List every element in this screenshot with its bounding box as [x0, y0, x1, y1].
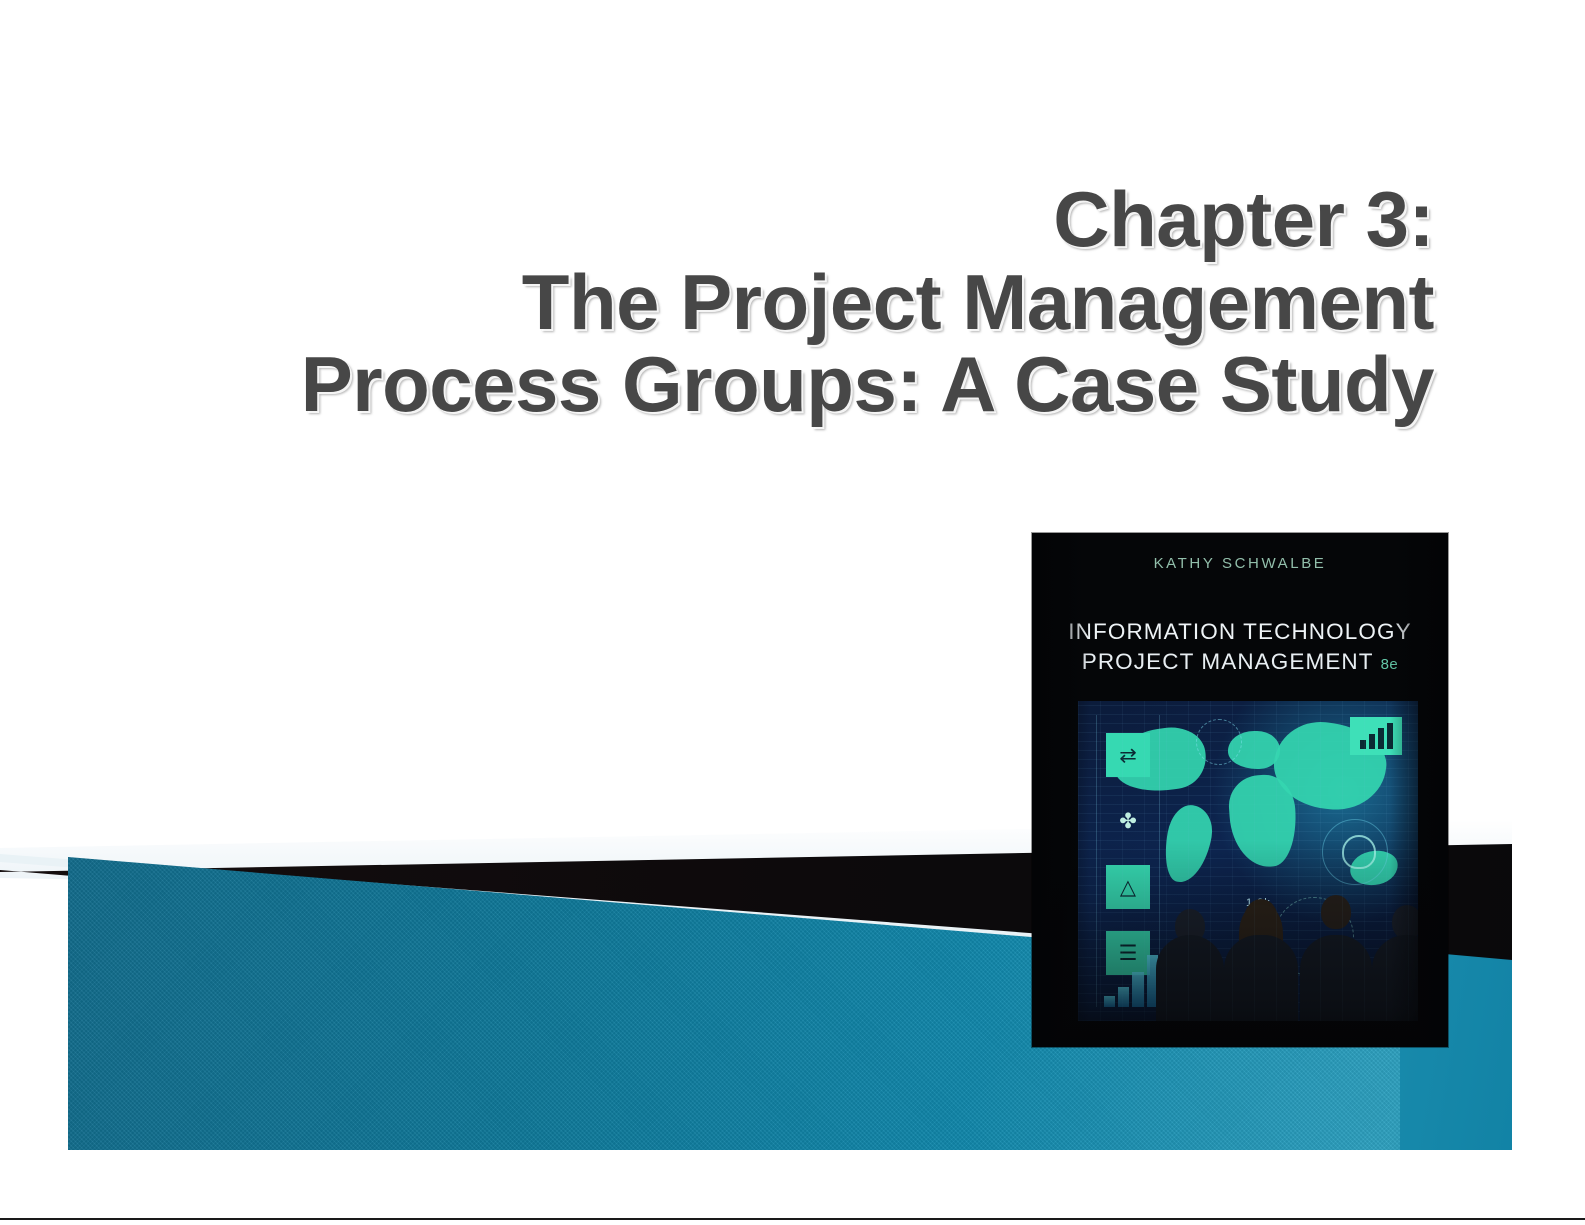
lightbulb-icon — [1342, 835, 1376, 869]
map-south-america — [1160, 802, 1217, 886]
title-line-3: Process Groups: A Case Study — [90, 343, 1434, 426]
person-head — [1392, 905, 1418, 939]
person-silhouette — [1156, 909, 1224, 1021]
person-silhouette — [1372, 905, 1418, 1021]
person-head — [1244, 899, 1278, 939]
network-cluster-icon: ✤ — [1106, 799, 1150, 843]
title-line-2: The Project Management — [90, 261, 1434, 344]
share-nodes-icon: ⇄ — [1106, 733, 1150, 777]
hud-badge: 1.8k — [1246, 897, 1271, 909]
bar-chart-tile-icon: ☰ — [1106, 931, 1150, 975]
person-body — [1224, 935, 1298, 1021]
hud-ring-icon — [1322, 819, 1388, 885]
book-icon-strip: ⇄ ✤ △ ☰ — [1096, 715, 1160, 1007]
person-head — [1321, 895, 1351, 929]
person-body — [1156, 935, 1224, 1021]
book-cover-image: KATHY SCHWALBE INFORMATION TECHNOLOGY PR… — [1032, 533, 1448, 1047]
person-silhouette — [1300, 895, 1372, 1021]
title-line-1: Chapter 3: — [90, 178, 1434, 261]
person-hair — [1239, 905, 1283, 977]
person-head — [1175, 909, 1205, 943]
page-title: Chapter 3: The Project Management Proces… — [90, 178, 1434, 426]
hud-ring-icon — [1274, 897, 1354, 977]
book-title-line-1: INFORMATION TECHNOLOGY — [1032, 619, 1448, 645]
bar-chart-icon — [1350, 717, 1402, 755]
person-body — [1372, 935, 1418, 1021]
slide-canvas: Chapter 3: The Project Management Proces… — [0, 0, 1585, 1225]
map-europe — [1228, 731, 1280, 769]
map-africa — [1227, 773, 1299, 869]
book-author-label: KATHY SCHWALBE — [1032, 555, 1448, 572]
bottom-divider — [0, 1218, 1585, 1220]
map-australia — [1347, 846, 1401, 889]
person-body — [1300, 935, 1372, 1021]
book-title-line-2: PROJECT MANAGEMENT 8e — [1032, 649, 1448, 675]
cloud-upload-icon: △ — [1106, 865, 1150, 909]
person-silhouette — [1224, 899, 1298, 1021]
book-edition-label: 8e — [1381, 656, 1399, 673]
map-north-america — [1110, 723, 1210, 797]
book-title-line-2-text: PROJECT MANAGEMENT — [1082, 649, 1374, 674]
book-data-panel: ⇄ ✤ △ ☰ 1.8k — [1078, 701, 1418, 1021]
hud-ring-icon — [1196, 719, 1242, 765]
people-silhouettes — [1078, 871, 1418, 1021]
mini-bar-chart — [1104, 947, 1172, 1007]
map-asia — [1270, 717, 1390, 814]
